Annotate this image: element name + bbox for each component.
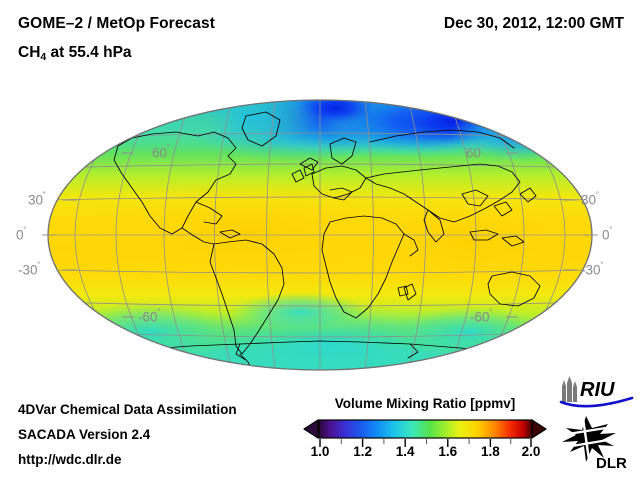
colorbar-tick-6: 2.0 [522, 444, 541, 459]
dlr-logo: DLR [556, 414, 636, 472]
website-link[interactable]: http://wdc.dlr.de [18, 452, 122, 467]
degree-symbol: ˚ [610, 226, 613, 236]
lat-label-right-m60: -60˚ [470, 308, 493, 325]
degree-symbol: ˚ [43, 191, 46, 201]
riu-wordmark: RIU [580, 379, 615, 401]
lat-label-left-0: 0˚ [16, 226, 27, 243]
degree-symbol: ˚ [490, 308, 493, 318]
colorbar-title: Volume Mixing Ratio [ppmv] [300, 396, 550, 411]
lat-label-right-0: 0˚ [602, 226, 613, 243]
degree-symbol: ˚ [24, 226, 27, 236]
lat-label-right-60: 60˚ [466, 144, 484, 161]
version-label: SACADA Version 2.4 [18, 427, 150, 442]
lat-label-left-m60: -60˚ [138, 308, 161, 325]
colorbar-tick-4: 1.6 [438, 444, 457, 459]
figure-root: GOME–2 / MetOp Forecast CH4 at 55.4 hPa … [0, 0, 640, 480]
species-prefix: CH [18, 44, 40, 61]
map-panel: 60˚ 30˚ 0˚ -30˚ -60˚ 60˚ 30˚ 0˚ -30˚ -60… [0, 82, 640, 382]
riu-tower-icon [562, 376, 577, 402]
degree-symbol: ˚ [481, 144, 484, 154]
method-label: 4DVar Chemical Data Assimilation [18, 402, 237, 417]
colorbar-gradient [319, 420, 532, 438]
colorbar-tick-3: 1.4 [396, 444, 415, 459]
lat-label-right-m30: -30˚ [581, 261, 604, 278]
colorbar-panel: Volume Mixing Ratio [ppmv] [300, 396, 550, 474]
degree-symbol: ˚ [167, 144, 170, 154]
colorbar[interactable] [300, 418, 550, 448]
species-suffix: at 55.4 hPa [46, 44, 131, 61]
degree-symbol: ˚ [38, 261, 41, 271]
colorbar-tick-2: 1.2 [353, 444, 372, 459]
colorbar-extend-low [304, 420, 318, 438]
degree-symbol: ˚ [596, 191, 599, 201]
species-subscript: 4 [40, 51, 46, 63]
species-subtitle: CH4 at 55.4 hPa [18, 44, 132, 62]
mollweide-map [0, 82, 640, 382]
colorbar-tick-1: 1.0 [311, 444, 330, 459]
lat-label-left-30: 30˚ [28, 191, 46, 208]
dlr-wordmark: DLR [596, 455, 627, 472]
lat-label-left-m30: -30˚ [18, 261, 41, 278]
degree-symbol: ˚ [601, 261, 604, 271]
degree-symbol: ˚ [158, 308, 161, 318]
lat-label-left-60: 60˚ [152, 144, 170, 161]
colorbar-tick-5: 1.8 [481, 444, 500, 459]
lat-label-right-30: 30˚ [581, 191, 599, 208]
riu-logo: RIU [556, 376, 636, 410]
page-title: GOME–2 / MetOp Forecast [18, 15, 215, 33]
timestamp-label: Dec 30, 2012, 12:00 GMT [444, 15, 624, 33]
colorbar-extend-high [532, 420, 546, 438]
